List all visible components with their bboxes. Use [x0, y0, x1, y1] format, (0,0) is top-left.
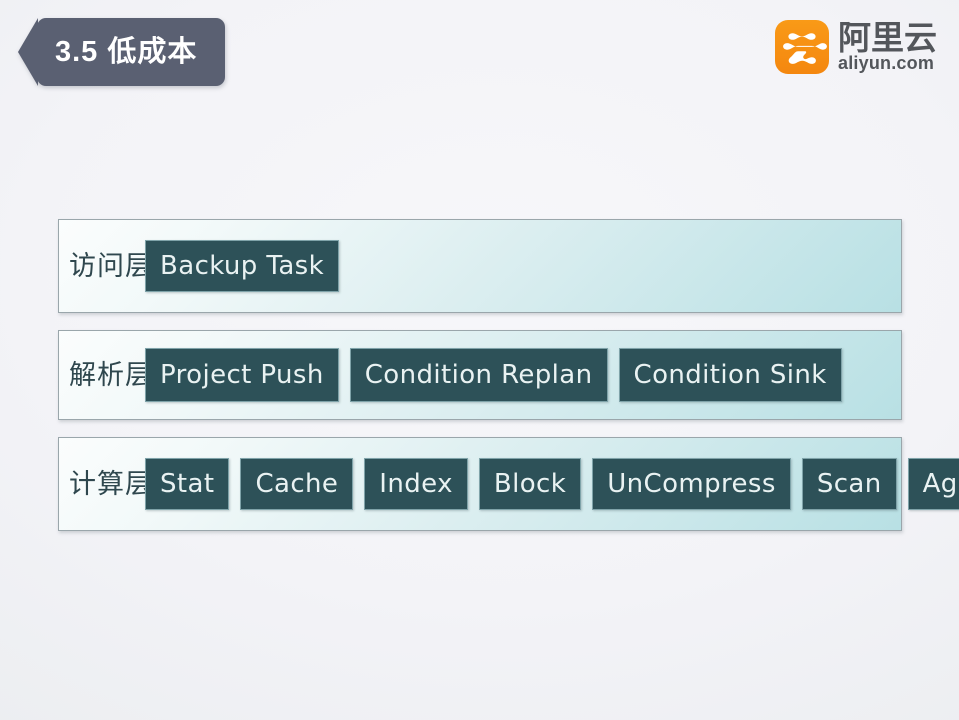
layer-row-parse: 解析层 Project Push Condition Replan Condit…	[58, 330, 902, 420]
node-block[interactable]: Block	[479, 458, 581, 510]
layer-label-compute: 计算层	[69, 471, 153, 498]
slide-canvas: 3.5 低成本 阿里云 aliyun.com 访问层	[0, 0, 959, 720]
layer-row-compute: 计算层 Stat Cache Index Block UnCompress Sc…	[58, 437, 902, 531]
node-condition-replan[interactable]: Condition Replan	[350, 348, 608, 402]
aliyun-logo-cn: 阿里云	[838, 21, 937, 55]
layer-label-parse: 解析层	[69, 362, 153, 389]
node-index[interactable]: Index	[364, 458, 468, 510]
aliyun-logo-text: 阿里云 aliyun.com	[838, 21, 937, 74]
node-condition-sink[interactable]: Condition Sink	[619, 348, 842, 402]
aliyun-cloud-mark-icon	[775, 20, 829, 74]
node-uncompress[interactable]: UnCompress	[592, 458, 791, 510]
layer-label-access: 访问层	[69, 253, 153, 280]
node-scan[interactable]: Scan	[802, 458, 897, 510]
node-group-compute: Stat Cache Index Block UnCompress Scan A…	[145, 458, 959, 510]
slide-title-badge: 3.5 低成本	[18, 18, 225, 86]
node-stat[interactable]: Stat	[145, 458, 229, 510]
aliyun-logo: 阿里云 aliyun.com	[775, 20, 937, 74]
badge-body: 3.5 低成本	[37, 18, 225, 86]
node-backup-task[interactable]: Backup Task	[145, 240, 339, 292]
node-project-push[interactable]: Project Push	[145, 348, 339, 402]
node-agg[interactable]: Agg	[908, 458, 959, 510]
aliyun-logo-en: aliyun.com	[838, 54, 937, 73]
node-cache[interactable]: Cache	[240, 458, 353, 510]
node-group-access: Backup Task	[145, 240, 339, 292]
badge-arrow-icon	[18, 18, 38, 86]
node-group-parse: Project Push Condition Replan Condition …	[145, 348, 842, 402]
architecture-diagram: 访问层 Backup Task 解析层 Project Push Conditi…	[58, 219, 902, 531]
layer-row-access: 访问层 Backup Task	[58, 219, 902, 313]
page-title: 3.5 低成本	[55, 38, 197, 67]
